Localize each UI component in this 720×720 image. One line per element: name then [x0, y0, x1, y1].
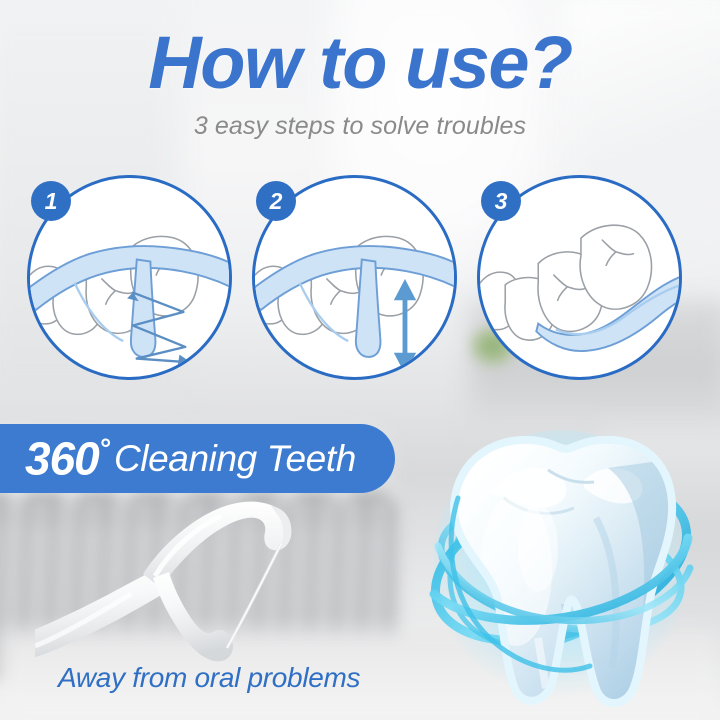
header: How to use? 3 easy steps to solve troubl…	[0, 26, 720, 141]
step-1-badge: 1	[31, 181, 71, 221]
step-2: 2	[252, 175, 457, 380]
molar-tooth-with-rings	[398, 398, 720, 720]
pick-fork-lower	[153, 572, 233, 661]
floss-pick-svg	[35, 488, 335, 668]
product-infographic-poster: How to use? 3 easy steps to solve troubl…	[0, 0, 720, 720]
tooth-graphic	[398, 398, 720, 720]
footer-tagline: Away from oral problems	[58, 662, 360, 694]
page-subtitle: 3 easy steps to solve troubles	[0, 112, 720, 141]
step-2-badge: 2	[256, 181, 296, 221]
steps-row: 1	[0, 175, 720, 385]
floss-thread-highlight	[227, 544, 281, 648]
step-1: 1	[27, 175, 232, 380]
banner-degrees: 360°	[25, 435, 109, 481]
page-title: How to use?	[0, 26, 720, 100]
cleaning-banner: 360° Cleaning Teeth	[0, 424, 395, 493]
banner-degrees-number: 360	[25, 433, 99, 485]
pick-handle	[35, 572, 163, 660]
degree-symbol-icon: °	[99, 433, 109, 464]
banner-label: Cleaning Teeth	[114, 440, 356, 477]
floss-pick-product-photo	[35, 488, 335, 668]
step-3: 3	[477, 175, 682, 380]
step-3-badge: 3	[481, 181, 521, 221]
